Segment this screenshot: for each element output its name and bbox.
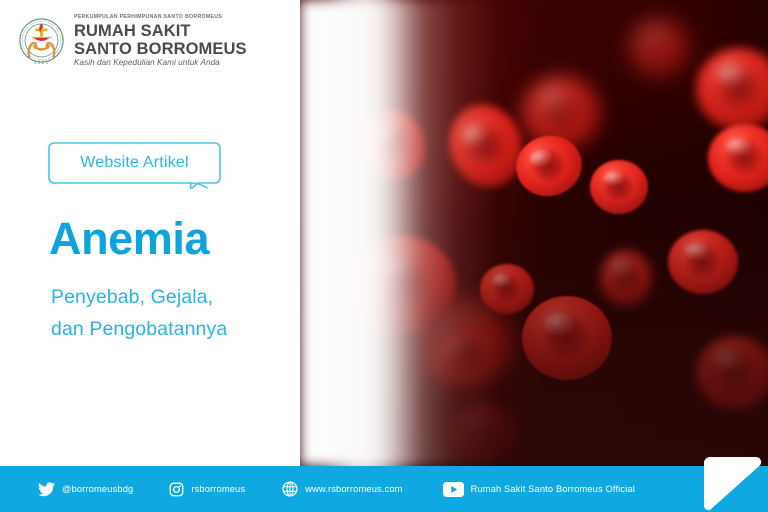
youtube-icon	[443, 482, 464, 497]
footer-item-instagram[interactable]: rsborromeus	[169, 482, 245, 497]
footer-bar: @borromeusbdg rsborromeus www.rsborr	[0, 466, 768, 512]
footer-label-youtube: Rumah Sakit Santo Borromeus Official	[471, 484, 635, 494]
blood-cells-image	[300, 0, 768, 466]
red-blood-cell	[630, 20, 688, 76]
footer-item-youtube[interactable]: Rumah Sakit Santo Borromeus Official	[443, 482, 635, 497]
footer-label-website: www.rsborromeus.com	[305, 484, 402, 494]
footer-label-instagram: rsborromeus	[191, 484, 245, 494]
globe-icon	[282, 481, 298, 497]
footer-label-twitter: @borromeusbdg	[62, 484, 133, 494]
twitter-icon	[38, 482, 55, 497]
badge-label: Website Artikel	[48, 142, 221, 184]
brand-line-2: SANTO BORROMEUS	[74, 41, 247, 58]
poster-canvas: PERKUMPULAN PERHIMPUNAN SANTO BORROMEUS …	[0, 0, 768, 512]
footer-item-twitter[interactable]: @borromeusbdg	[38, 482, 133, 497]
brand-wordmark: PERKUMPULAN PERHIMPUNAN SANTO BORROMEUS …	[74, 14, 247, 68]
page-title: Anemia	[49, 213, 209, 265]
light-streak	[322, 0, 410, 466]
website-artikel-badge[interactable]: Website Artikel	[48, 142, 221, 189]
borromeus-seal-icon	[18, 17, 65, 64]
instagram-icon	[169, 482, 184, 497]
footer-item-website[interactable]: www.rsborromeus.com	[282, 481, 402, 497]
brand-kicker: PERKUMPULAN PERHIMPUNAN SANTO BORROMEUS	[74, 15, 247, 20]
brand-tagline: Kasih dan Kepedulian Kami untuk Anda	[74, 59, 247, 67]
subtitle-line-2: dan Pengobatannya	[51, 314, 227, 346]
page-subtitle: Penyebab, Gejala, dan Pengobatannya	[51, 282, 227, 345]
subtitle-line-1: Penyebab, Gejala,	[51, 282, 227, 314]
brand-logo: PERKUMPULAN PERHIMPUNAN SANTO BORROMEUS …	[18, 14, 247, 68]
brand-line-1: RUMAH SAKIT	[74, 23, 247, 40]
